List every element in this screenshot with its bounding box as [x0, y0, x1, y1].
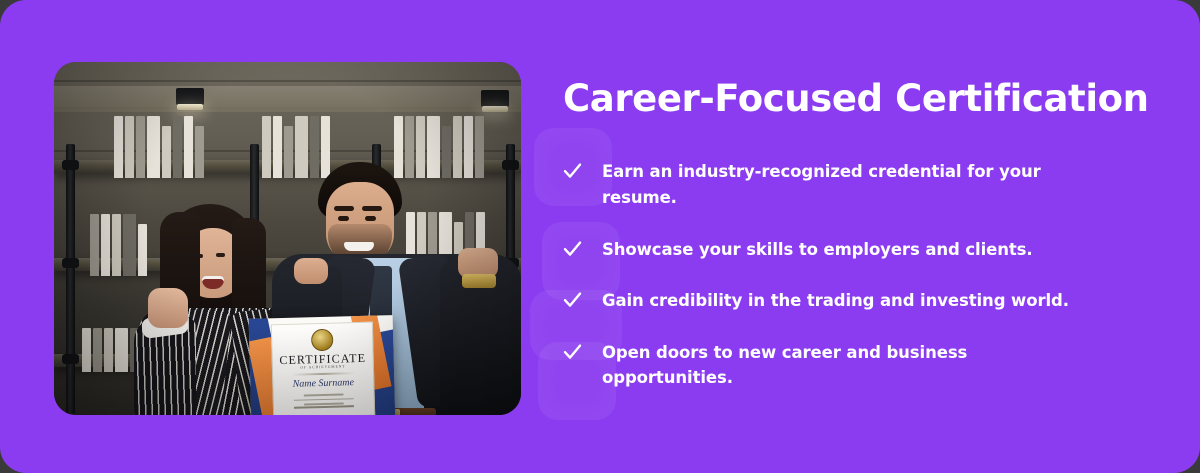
benefit-text: Gain credibility in the trading and inve…: [602, 288, 1069, 314]
page-title: Career-Focused Certification: [563, 78, 1163, 119]
check-icon: [563, 238, 582, 260]
benefit-text: Earn an industry-recognized credential f…: [602, 159, 1072, 210]
certification-photo: CERTIFICATE OF ACHIEVEMENT Name Surname: [54, 62, 521, 415]
photo-scene: CERTIFICATE OF ACHIEVEMENT Name Surname: [54, 62, 521, 415]
check-icon: [563, 341, 582, 363]
benefit-text: Showcase your skills to employers and cl…: [602, 237, 1033, 263]
benefit-list: Earn an industry-recognized credential f…: [563, 159, 1163, 390]
promo-content: Career-Focused Certification Earn an ind…: [563, 78, 1163, 391]
list-item: Gain credibility in the trading and inve…: [563, 288, 1163, 314]
benefit-text: Open doors to new career and business op…: [602, 340, 1072, 391]
check-icon: [563, 160, 582, 182]
list-item: Open doors to new career and business op…: [563, 340, 1163, 391]
check-icon: [563, 289, 582, 311]
list-item: Showcase your skills to employers and cl…: [563, 237, 1163, 263]
photo-vignette: [54, 62, 521, 415]
list-item: Earn an industry-recognized credential f…: [563, 159, 1163, 210]
career-certification-promo-card: CERTIFICATE OF ACHIEVEMENT Name Surname: [0, 0, 1200, 473]
